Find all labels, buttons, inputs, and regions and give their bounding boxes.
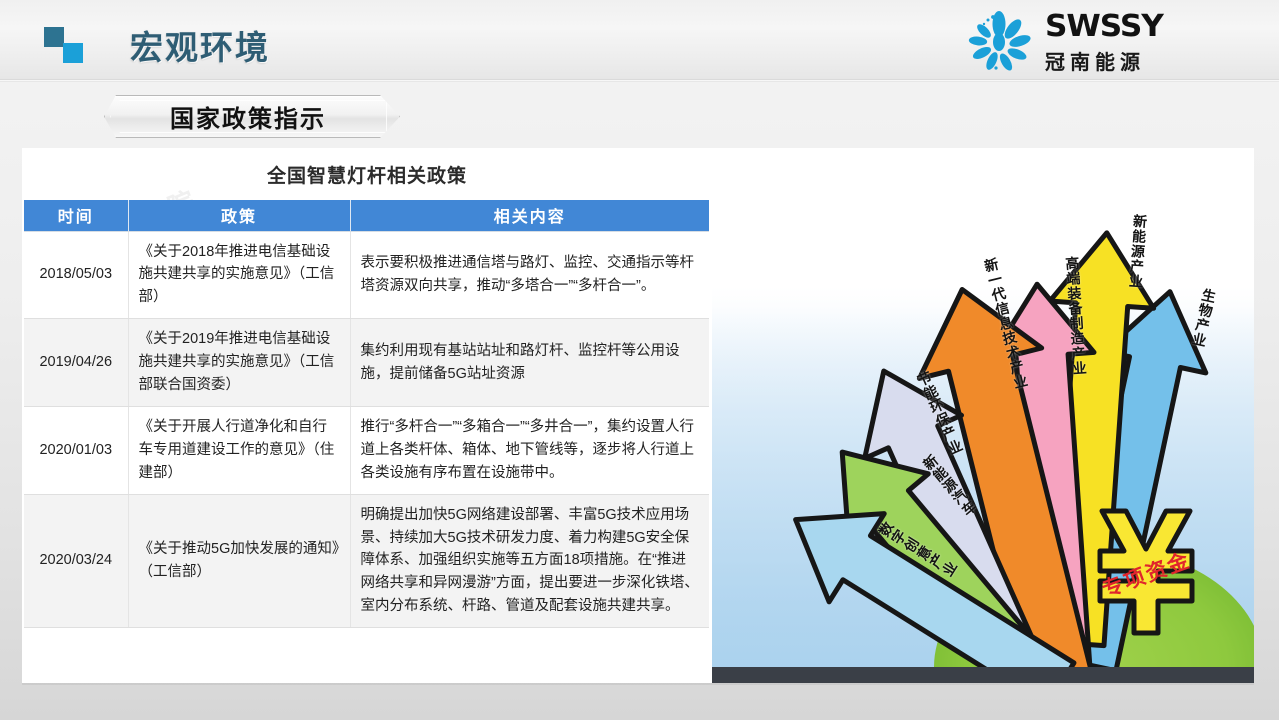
cell-policy: 《关于推动5G加快发展的通知》（工信部） [128, 494, 350, 628]
content-panel: 全国智慧灯杆相关政策 产业研究院 产业研究院 产业研究院 产业研究院 时间 政策… [22, 148, 1254, 683]
column-header-date: 时间 [24, 200, 128, 231]
policy-table-block: 全国智慧灯杆相关政策 产业研究院 产业研究院 产业研究院 产业研究院 时间 政策… [22, 148, 712, 658]
cell-content: 明确提出加快5G网络建设部署、丰富5G技术应用场景、持续加大5G技术研发力度、着… [350, 494, 709, 628]
page-title: 宏观环境 [130, 21, 270, 69]
cell-content: 表示要积极推进通信塔与路灯、监控、交通指示等杆塔资源双向共享，推动“多塔合一”“… [350, 231, 709, 319]
cell-date: 2018/05/03 [24, 231, 128, 319]
cell-date: 2020/01/03 [24, 406, 128, 494]
cell-date: 2020/03/24 [24, 494, 128, 628]
illustration-bottom-bar [712, 667, 1254, 683]
policy-table: 时间 政策 相关内容 2018/05/03 《关于2018年推进电信基础设施共建… [24, 200, 709, 628]
cell-content: 推行“多杆合一”“多箱合一”“多井合一”，集约设置人行道上各类杆体、箱体、地下管… [350, 406, 709, 494]
cell-policy: 《关于2019年推进电信基础设施共建共享的实施意见》（工信部联合国资委） [128, 319, 350, 407]
water-droplet-flower-icon [963, 8, 1035, 72]
header-divider-rule [0, 79, 1279, 82]
table-header-row: 时间 政策 相关内容 [24, 200, 709, 231]
table-row: 2020/03/24 《关于推动5G加快发展的通知》（工信部） 明确提出加快5G… [24, 494, 709, 628]
panel-bottom-edge [22, 683, 1254, 685]
section-banner-label: 国家政策指示 [104, 95, 400, 138]
square-dark [44, 27, 64, 47]
cell-policy: 《关于2018年推进电信基础设施共建共享的实施意见》（工信部） [128, 231, 350, 319]
brand-logo: SWSSY 冠南能源 [963, 8, 1233, 72]
logo-text-block: SWSSY 冠南能源 [1045, 11, 1235, 75]
yen-currency-icon: 专项资金 [1080, 505, 1212, 637]
cell-content: 集约利用现有基站站址和路灯杆、监控杆等公用设施，提前储备5G站址资源 [350, 319, 709, 407]
logo-brand-subtitle: 冠南能源 [1045, 46, 1235, 75]
table-row: 2018/05/03 《关于2018年推进电信基础设施共建共享的实施意见》（工信… [24, 231, 709, 319]
column-header-policy: 政策 [128, 200, 350, 231]
column-header-content: 相关内容 [350, 200, 709, 231]
table-row: 2020/01/03 《关于开展人行道净化和自行车专用道建设工作的意见》（住建部… [24, 406, 709, 494]
two-squares-icon [44, 27, 86, 63]
logo-brand-name: SWSSY [1045, 11, 1243, 43]
square-light [63, 43, 83, 63]
table-title: 全国智慧灯杆相关政策 [22, 161, 712, 188]
rising-arrows-special-funds-illustration: .ar { stroke:#161616; stroke-width:5; st… [712, 148, 1254, 683]
cell-policy: 《关于开展人行道净化和自行车专用道建设工作的意见》（住建部） [128, 406, 350, 494]
section-banner[interactable]: 国家政策指示 [104, 95, 400, 138]
cell-date: 2019/04/26 [24, 319, 128, 407]
table-row: 2019/04/26 《关于2019年推进电信基础设施共建共享的实施意见》（工信… [24, 319, 709, 407]
